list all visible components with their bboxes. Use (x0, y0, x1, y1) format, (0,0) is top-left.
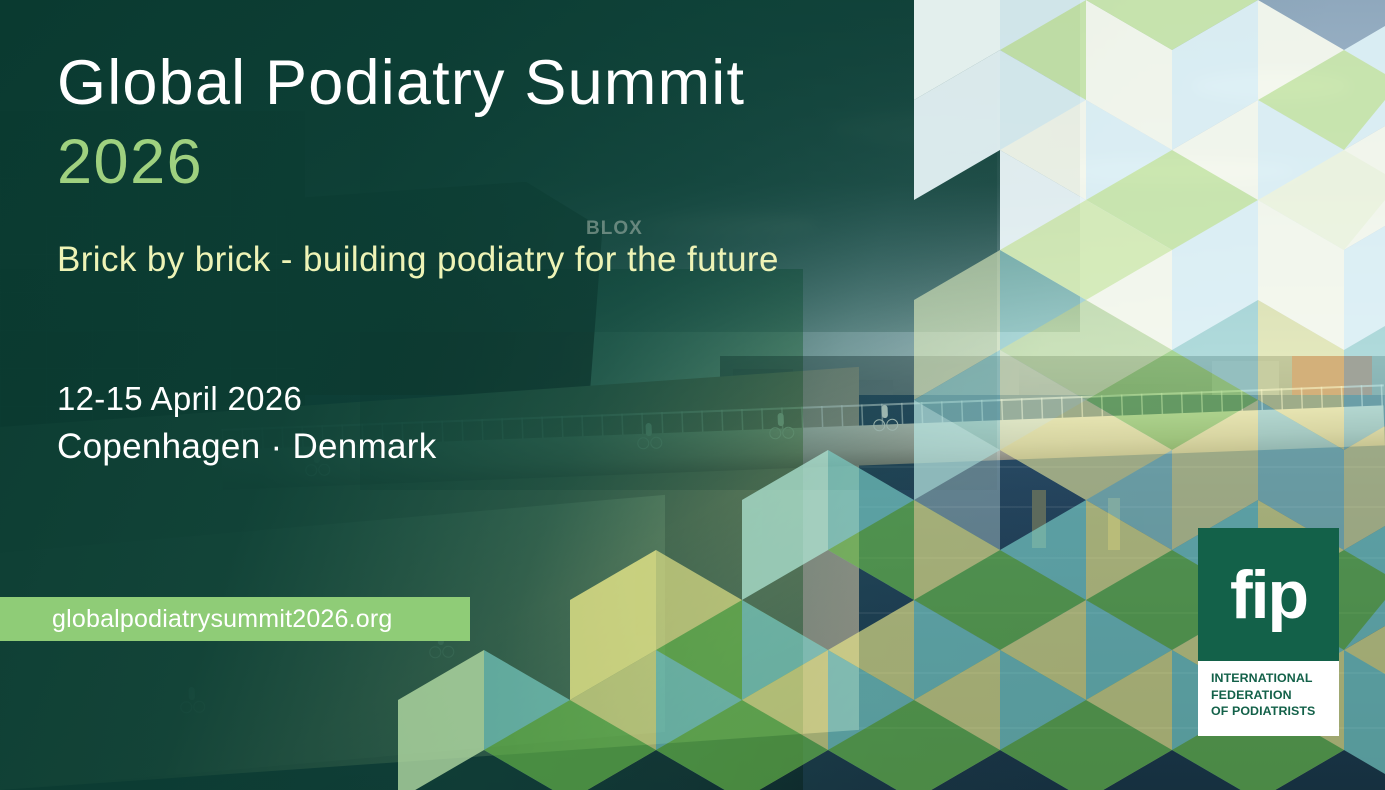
fip-caption-line-3: OF PODIATRISTS (1211, 703, 1327, 720)
fip-logo-mark: fip (1198, 528, 1339, 661)
event-date: 12-15 April 2026 (57, 380, 302, 418)
fip-logo-caption: INTERNATIONAL FEDERATION OF PODIATRISTS (1198, 661, 1339, 736)
website-url-band[interactable]: globalpodiatrysummit2026.org (0, 597, 470, 641)
fip-logo[interactable]: fip INTERNATIONAL FEDERATION OF PODIATRI… (1198, 528, 1339, 736)
event-tagline: Brick by brick - building podiatry for t… (57, 240, 779, 280)
fip-wordmark: fip (1198, 561, 1339, 629)
website-url-text: globalpodiatrysummit2026.org (52, 605, 393, 634)
event-year: 2026 (57, 131, 203, 194)
event-banner: BLOX (0, 0, 1385, 790)
fip-caption-line-1: INTERNATIONAL (1211, 670, 1327, 687)
banner-text-layer: Global Podiatry Summit 2026 Brick by bri… (0, 0, 1385, 790)
fip-caption-line-2: FEDERATION (1211, 687, 1327, 704)
page-title: Global Podiatry Summit (57, 52, 745, 115)
event-location: Copenhagen · Denmark (57, 427, 437, 467)
